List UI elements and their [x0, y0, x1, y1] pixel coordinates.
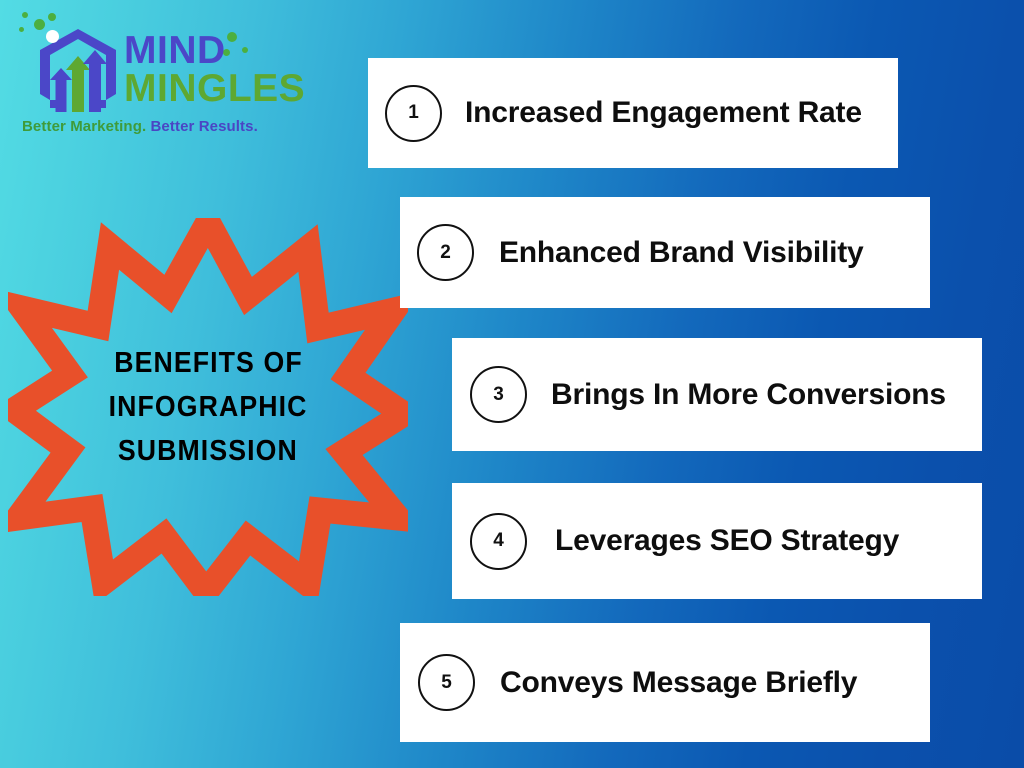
benefit-label-2: Enhanced Brand Visibility: [499, 236, 864, 270]
benefit-label-5: Conveys Message Briefly: [500, 666, 857, 700]
logo-tagline: Better Marketing. Better Results.: [22, 118, 258, 135]
benefit-label-3: Brings In More Conversions: [551, 378, 946, 412]
logo-dot-icon: [46, 30, 59, 43]
starburst-icon: [8, 218, 408, 596]
logo-dot-icon: [19, 27, 24, 32]
logo-wordmark: MIND MINGLES: [124, 32, 305, 108]
benefit-card-2[interactable]: 2 Enhanced Brand Visibility: [400, 197, 930, 308]
logo-tagline-part1: Better Marketing.: [22, 118, 146, 135]
benefit-number-3: 3: [470, 366, 527, 423]
benefit-card-3[interactable]: 3 Brings In More Conversions: [452, 338, 982, 451]
benefit-card-5[interactable]: 5 Conveys Message Briefly: [400, 623, 930, 742]
logo-word-mind: MIND: [124, 32, 305, 70]
benefit-card-1[interactable]: 1 Increased Engagement Rate: [368, 58, 898, 168]
logo-dot-icon: [22, 12, 28, 18]
benefit-number-1: 1: [385, 85, 442, 142]
logo-dot-icon: [34, 19, 45, 30]
logo-word-mingles: MINGLES: [124, 70, 305, 108]
benefit-number-4: 4: [470, 513, 527, 570]
logo-tagline-part2: Better Results.: [146, 118, 258, 135]
benefit-card-4[interactable]: 4 Leverages SEO Strategy: [452, 483, 982, 599]
benefit-number-2: 2: [417, 224, 474, 281]
benefit-label-1: Increased Engagement Rate: [465, 96, 862, 130]
logo-dot-icon: [48, 13, 56, 21]
logo-hexagon-arrows-icon: [28, 22, 128, 122]
brand-logo: MIND MINGLES Better Marketing. Better Re…: [8, 6, 260, 134]
benefit-number-5: 5: [418, 654, 475, 711]
benefit-label-4: Leverages SEO Strategy: [555, 524, 899, 558]
starburst-badge: BENEFITS OF INFOGRAPHIC SUBMISSION: [8, 218, 408, 596]
